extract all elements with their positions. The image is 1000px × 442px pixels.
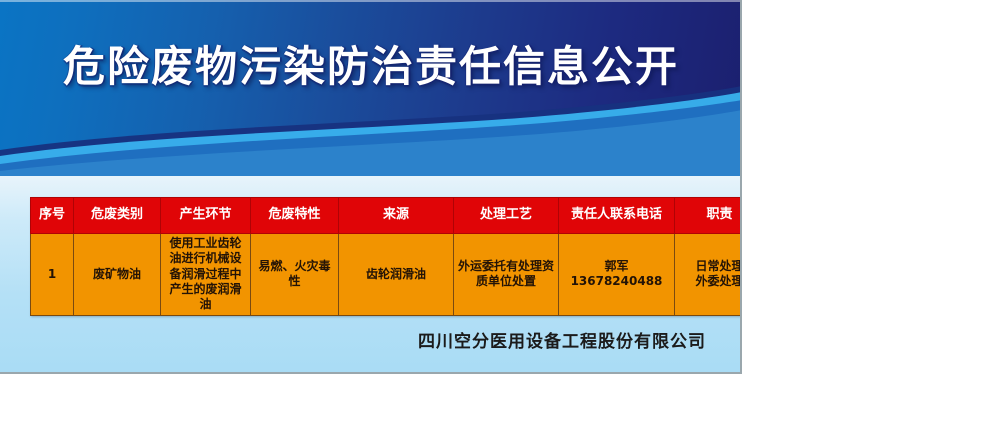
hazardous-waste-table: 序号 危废类别 产生环节 危废特性 来源 处理工艺 责任人联系电话 职责 1 废… <box>30 197 742 316</box>
cell-hazard-property: 易燃、火灾毒性 <box>251 234 339 316</box>
table-row: 1 废矿物油 使用工业齿轮油进行机械设备润滑过程中产生的废润滑油 易燃、火灾毒性… <box>31 234 743 316</box>
company-name: 四川空分医用设备工程股份有限公司 <box>418 327 706 352</box>
cell-source: 齿轮润滑油 <box>339 234 454 316</box>
column-header-source: 来源 <box>339 198 454 234</box>
column-header-treatment-process: 处理工艺 <box>454 198 559 234</box>
duty-line-1: 日常处理 <box>678 259 742 274</box>
column-header-duty: 职责 <box>675 198 743 234</box>
column-header-index: 序号 <box>31 198 74 234</box>
page-title: 危险废物污染防治责任信息公开 <box>0 44 742 89</box>
responsible-person-name: 郭军 <box>562 259 671 274</box>
cell-treatment-process: 外运委托有处理资质单位处置 <box>454 234 559 316</box>
column-header-responsible-contact: 责任人联系电话 <box>559 198 675 234</box>
cell-category: 废矿物油 <box>74 234 161 316</box>
information-disclosure-poster: 危险废物污染防治责任信息公开 序号 危废类别 产生环节 危废特性 来源 处理工艺… <box>0 0 742 374</box>
column-header-generation-stage: 产生环节 <box>161 198 251 234</box>
cell-index: 1 <box>31 234 74 316</box>
poster-banner: 危险废物污染防治责任信息公开 <box>0 0 742 176</box>
column-header-hazard-property: 危废特性 <box>251 198 339 234</box>
responsible-person-phone: 13678240488 <box>562 274 671 289</box>
duty-line-2: 外委处理 <box>678 274 742 289</box>
cell-responsible-contact: 郭军 13678240488 <box>559 234 675 316</box>
table-header-row: 序号 危废类别 产生环节 危废特性 来源 处理工艺 责任人联系电话 职责 <box>31 198 743 234</box>
column-header-category: 危废类别 <box>74 198 161 234</box>
cell-generation-stage: 使用工业齿轮油进行机械设备润滑过程中产生的废润滑油 <box>161 234 251 316</box>
cell-duty: 日常处理 外委处理 <box>675 234 743 316</box>
